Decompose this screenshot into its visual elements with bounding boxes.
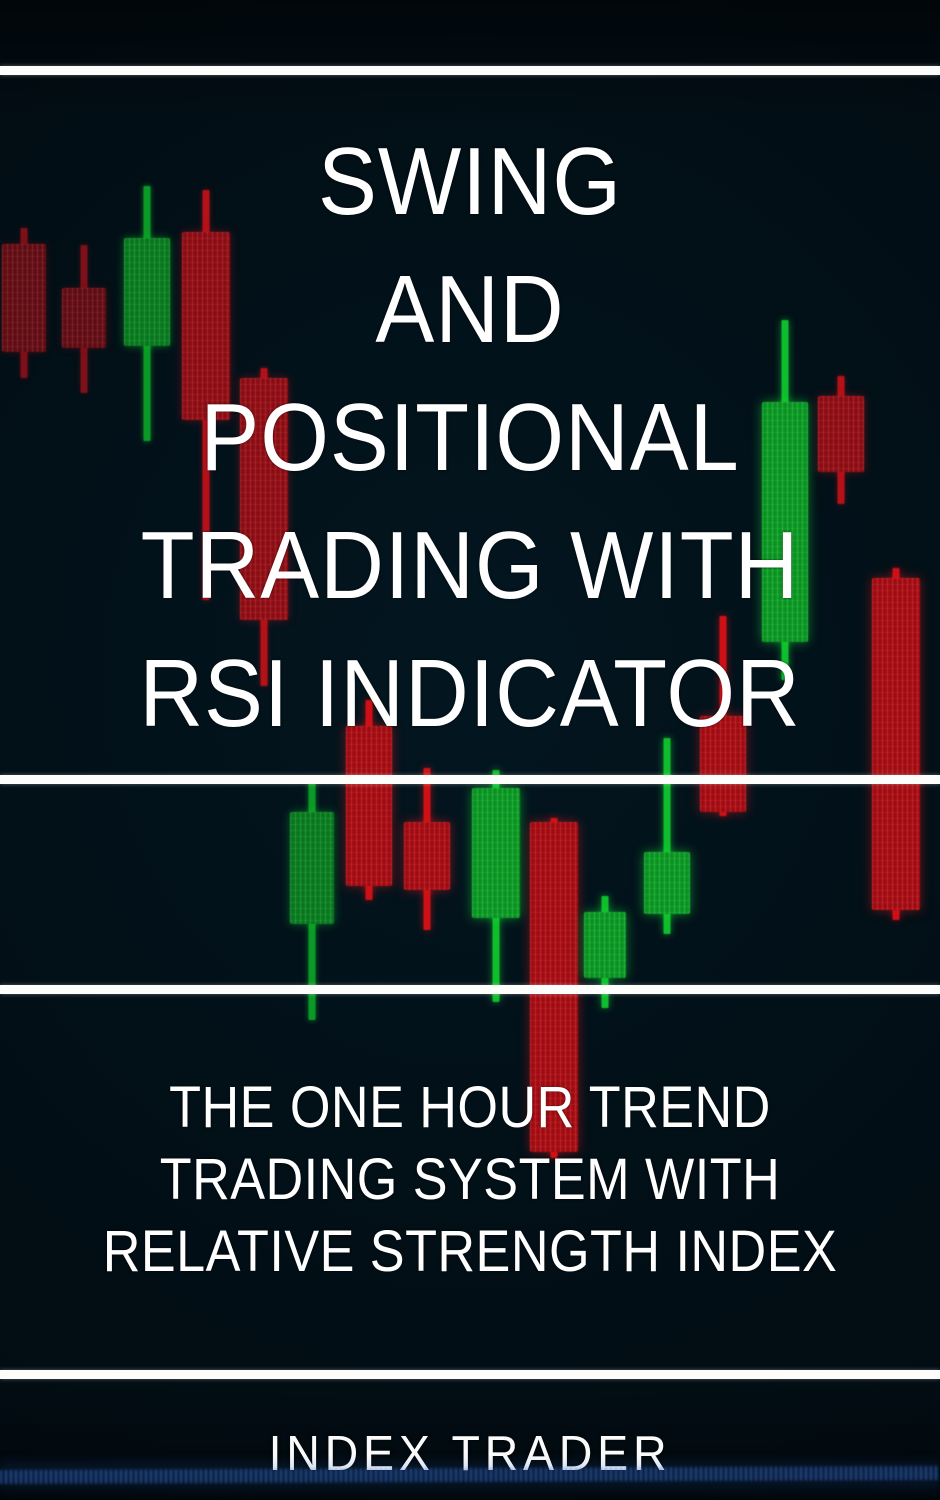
subtitle-line-1: THE ONE HOUR TREND — [47, 1072, 893, 1144]
title-line-4: TRADING WITH — [38, 502, 903, 630]
cover-text-layer: SWING AND POSITIONAL TRADING WITH RSI IN… — [0, 0, 940, 1500]
subtitle-line-2: TRADING SYSTEM WITH — [47, 1144, 893, 1216]
book-subtitle: THE ONE HOUR TREND TRADING SYSTEM WITH R… — [0, 1072, 940, 1288]
book-title: SWING AND POSITIONAL TRADING WITH RSI IN… — [0, 118, 940, 758]
book-cover: SWING AND POSITIONAL TRADING WITH RSI IN… — [0, 0, 940, 1500]
subtitle-line-3: RELATIVE STRENGTH INDEX — [47, 1216, 893, 1288]
title-line-1: SWING — [38, 118, 903, 246]
title-line-3: POSITIONAL — [38, 374, 903, 502]
title-line-2: AND — [38, 246, 903, 374]
title-line-5: RSI INDICATOR — [38, 630, 903, 758]
